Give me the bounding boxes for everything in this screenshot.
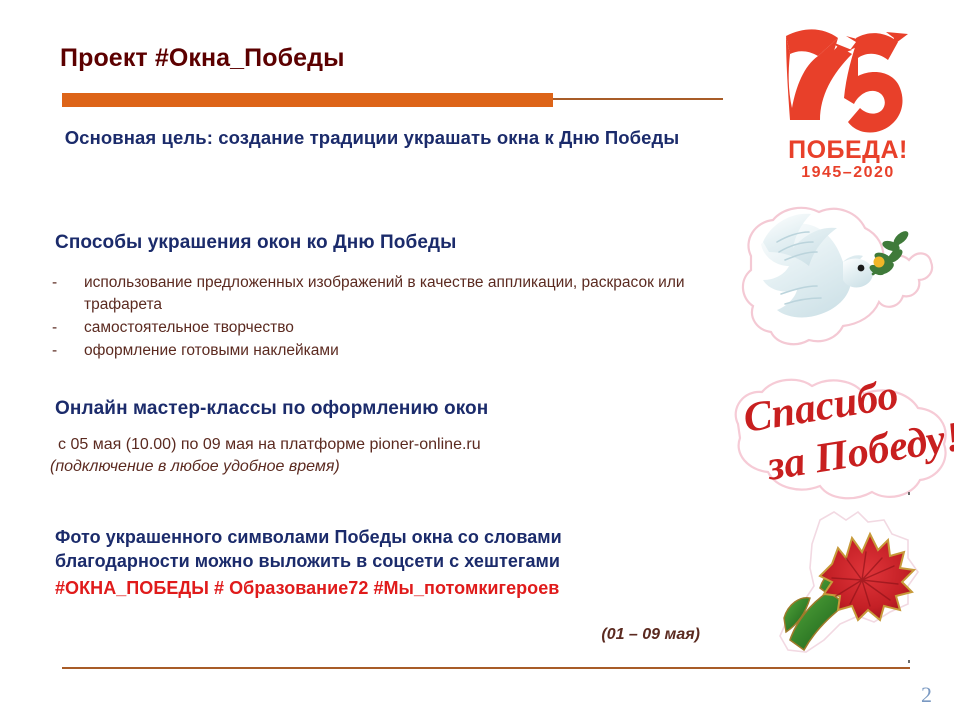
stray-mark — [908, 492, 910, 495]
page-number: 2 — [921, 682, 932, 708]
bullet-dash-icon: - — [52, 317, 57, 339]
decoration-ways-list: - использование предложенных изображений… — [48, 272, 708, 363]
master-classes-note: (подключение в любое удобное время) — [50, 458, 340, 476]
stray-mark — [908, 660, 910, 663]
list-item: - самостоятельное творчество — [48, 317, 708, 339]
victory-logo-years: 1945–2020 — [801, 164, 895, 181]
bullet-dash-icon: - — [52, 272, 57, 294]
master-classes-heading: Онлайн мастер-классы по оформлению окон — [55, 398, 488, 420]
title-accent-bar — [62, 93, 553, 107]
olive-berry-icon — [874, 257, 885, 268]
list-item-label: оформление готовыми наклейками — [84, 342, 339, 359]
victory-logo-caption: ПОБЕДА! — [788, 136, 908, 164]
presentation-slide: Проект #Окна_Победы Основная цель: созда… — [0, 0, 960, 720]
list-item-label: использование предложенных изображений в… — [84, 274, 685, 313]
photo-instructions-text: Фото украшенного символами Победы окна с… — [55, 525, 695, 574]
decoration-ways-heading: Способы украшения окон ко Дню Победы — [55, 232, 456, 254]
thank-you-for-victory-sticker: Спасибо за Победу! — [726, 374, 954, 504]
main-goal-heading: Основная цель: создание традиции украшат… — [48, 126, 696, 151]
dove-eye-icon — [858, 265, 865, 272]
list-item: - использование предложенных изображений… — [48, 272, 708, 316]
list-item: - оформление готовыми наклейками — [48, 340, 708, 362]
victory-75-logo: ПОБЕДА! 1945–2020 — [748, 12, 948, 182]
red-carnation-sticker — [762, 500, 932, 670]
list-item-label: самостоятельное творчество — [84, 319, 294, 336]
page-title: Проект #Окна_Победы — [60, 44, 345, 73]
date-range-label: (01 – 09 мая) — [450, 626, 700, 644]
bullet-dash-icon: - — [52, 340, 57, 362]
hashtags-line: #ОКНА_ПОБЕДЫ # Образование72 #Мы_потомки… — [55, 578, 559, 599]
dove-with-olive-branch-sticker — [733, 198, 945, 363]
master-classes-schedule: с 05 мая (10.00) по 09 мая на платформе … — [58, 436, 481, 454]
